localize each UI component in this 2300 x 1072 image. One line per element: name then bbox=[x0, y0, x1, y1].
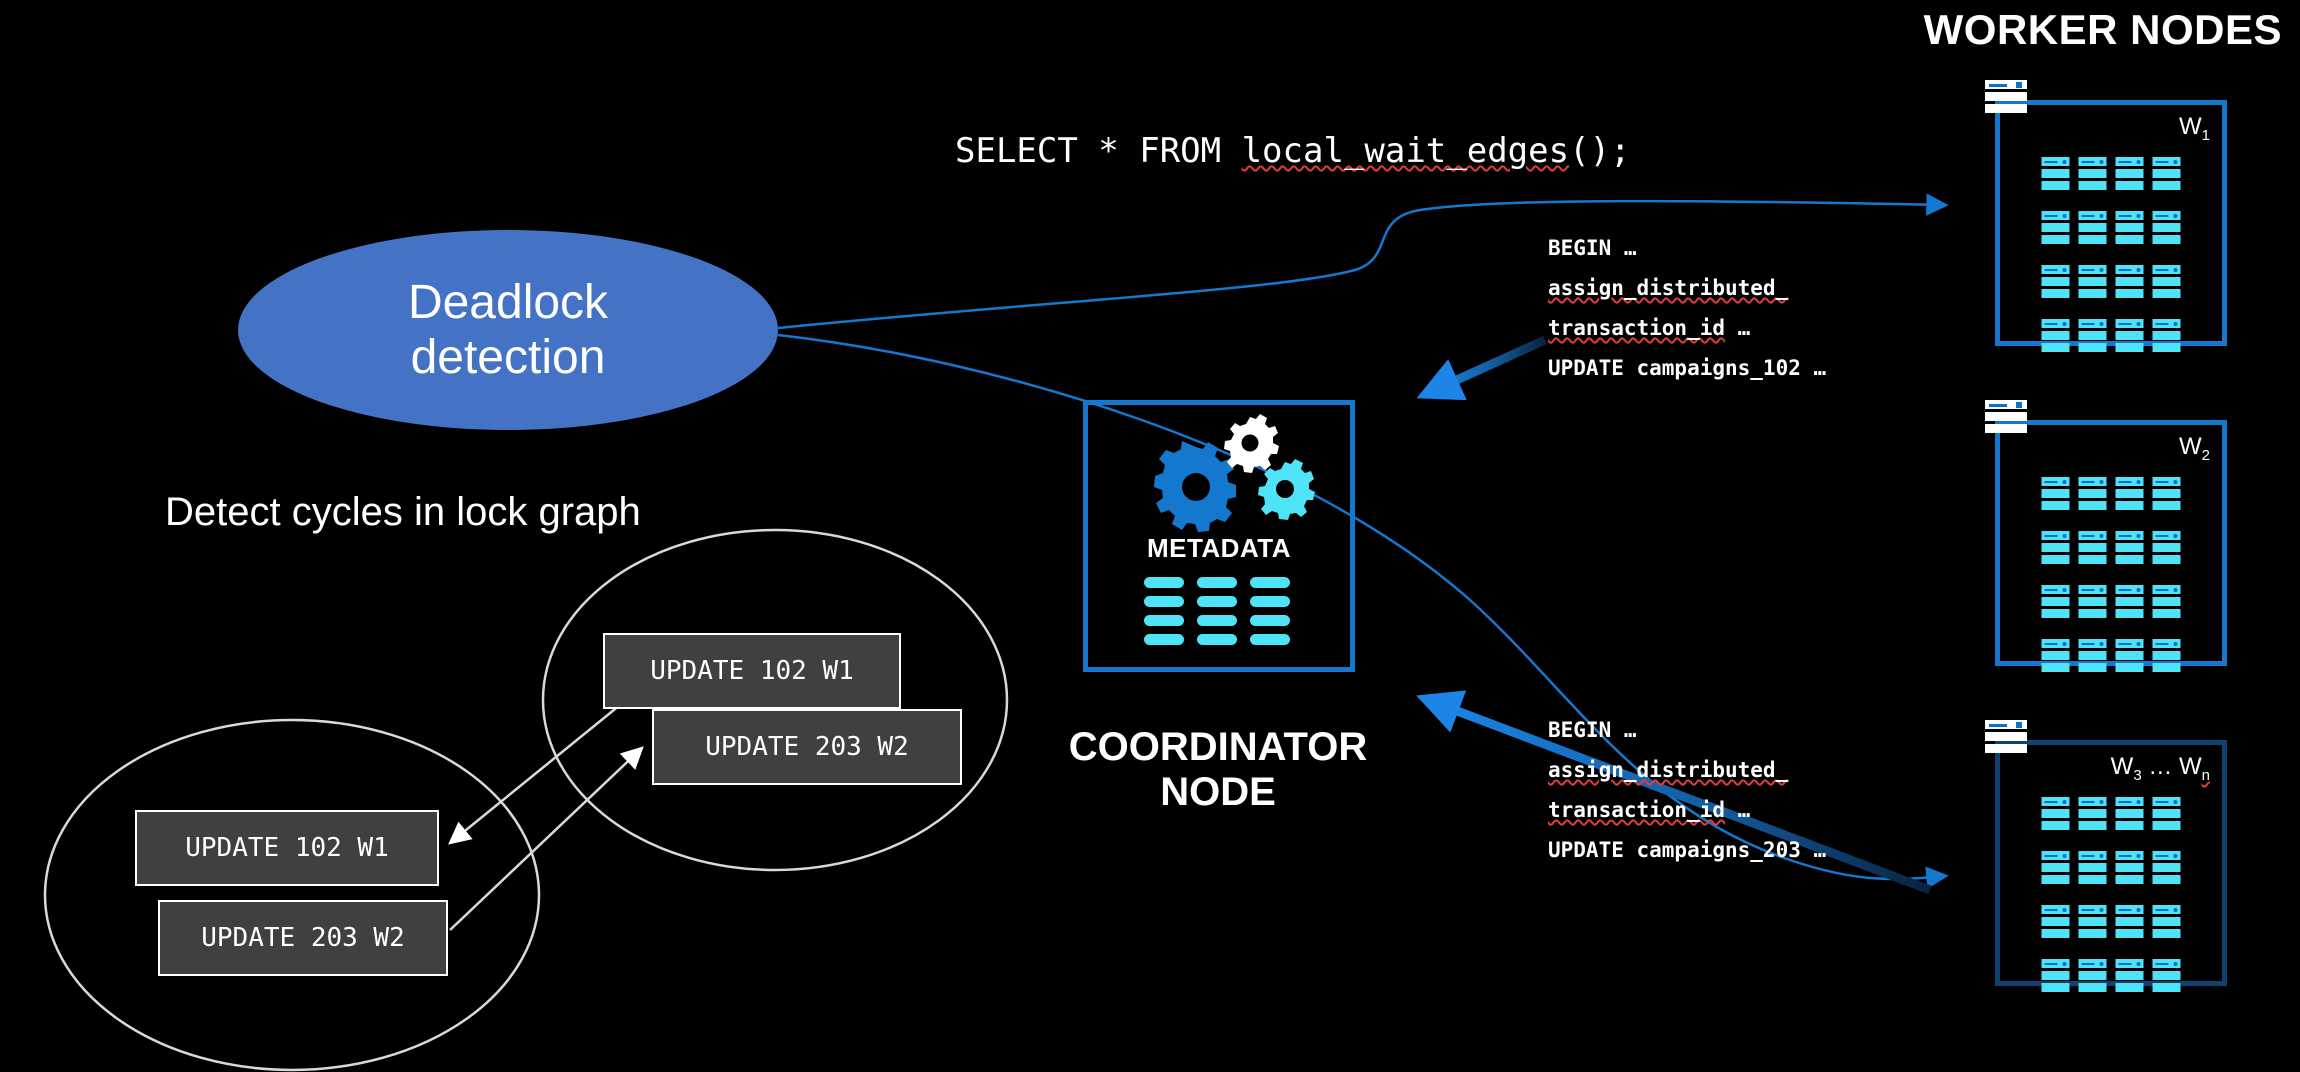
table-icon bbox=[2079, 157, 2107, 193]
server-bar bbox=[1985, 80, 2027, 89]
table-icon-row bbox=[2153, 651, 2181, 660]
table-icon-header bbox=[2042, 211, 2070, 220]
table-icon-row bbox=[2079, 929, 2107, 938]
table-icon-row bbox=[2153, 983, 2181, 992]
worker-node-label-2: W2 bbox=[2179, 433, 2210, 464]
table-icon bbox=[2042, 851, 2070, 887]
table-icon-header bbox=[2153, 639, 2181, 648]
table-icon-row bbox=[2079, 809, 2107, 818]
table-icon-header bbox=[2079, 157, 2107, 166]
txn-line-begin: BEGIN … bbox=[1548, 710, 1826, 750]
table-icon bbox=[2153, 639, 2181, 675]
table-icon bbox=[2079, 905, 2107, 941]
table-icon bbox=[2153, 477, 2181, 513]
metadata-bar bbox=[1197, 634, 1237, 645]
table-icon-row bbox=[2116, 331, 2144, 340]
table-icon-row bbox=[2042, 597, 2070, 606]
server-bar bbox=[1985, 720, 2027, 729]
table-icon-row bbox=[2079, 821, 2107, 830]
table-icon-row bbox=[2153, 169, 2181, 178]
table-icon-row bbox=[2042, 875, 2070, 884]
server-icon bbox=[1985, 720, 2027, 756]
table-icon bbox=[2116, 319, 2144, 355]
table-icon bbox=[2079, 639, 2107, 675]
table-icon-header bbox=[2116, 797, 2144, 806]
table-icon-row bbox=[2153, 181, 2181, 190]
metadata-bar bbox=[1197, 577, 1237, 588]
table-icon-row bbox=[2042, 663, 2070, 672]
table-icon bbox=[2116, 639, 2144, 675]
arrow-txn-top-to-coordinator bbox=[1428, 340, 1545, 393]
table-icon-row bbox=[2042, 181, 2070, 190]
coordinator-node-box: METADATA bbox=[1083, 400, 1355, 672]
lock-node-a2: UPDATE 203 W2 bbox=[652, 709, 962, 785]
table-icon bbox=[2153, 959, 2181, 995]
table-icon bbox=[2153, 265, 2181, 301]
table-icon-header bbox=[2042, 319, 2070, 328]
table-icon-header bbox=[2116, 851, 2144, 860]
metadata-bar bbox=[1250, 634, 1290, 645]
table-icon bbox=[2042, 959, 2070, 995]
table-icon bbox=[2116, 851, 2144, 887]
table-icon-row bbox=[2079, 223, 2107, 232]
table-icon-row bbox=[2079, 875, 2107, 884]
table-icon-row bbox=[2153, 289, 2181, 298]
table-icon-header bbox=[2042, 639, 2070, 648]
table-icon-row bbox=[2079, 555, 2107, 564]
table-icon-header bbox=[2042, 585, 2070, 594]
table-icon-row bbox=[2079, 917, 2107, 926]
table-icon-header bbox=[2079, 905, 2107, 914]
deadlock-title-line2: detection bbox=[408, 330, 608, 385]
table-icon-row bbox=[2153, 609, 2181, 618]
table-icon bbox=[2116, 797, 2144, 833]
table-icon-row bbox=[2042, 971, 2070, 980]
table-icon-header bbox=[2116, 157, 2144, 166]
table-icon-row bbox=[2042, 929, 2070, 938]
worker-label-subscript-n: n bbox=[2202, 767, 2210, 784]
table-icon-row bbox=[2153, 875, 2181, 884]
table-icon-header bbox=[2116, 639, 2144, 648]
server-bar bbox=[1985, 424, 2027, 433]
table-icon bbox=[2116, 959, 2144, 995]
table-icon-header bbox=[2153, 157, 2181, 166]
metadata-bar bbox=[1250, 577, 1290, 588]
table-icon-row bbox=[2116, 489, 2144, 498]
table-icon-row bbox=[2116, 555, 2144, 564]
table-icon bbox=[2042, 531, 2070, 567]
table-icon-row bbox=[2042, 235, 2070, 244]
table-icon bbox=[2116, 905, 2144, 941]
table-icon bbox=[2042, 639, 2070, 675]
table-icon-header bbox=[2153, 265, 2181, 274]
table-icon-header bbox=[2042, 265, 2070, 274]
deadlock-title-line1: Deadlock bbox=[408, 275, 608, 330]
table-icon-header bbox=[2079, 477, 2107, 486]
table-icon-row bbox=[2042, 223, 2070, 232]
table-icon bbox=[2079, 585, 2107, 621]
metadata-label: METADATA bbox=[1088, 533, 1350, 564]
table-icon bbox=[2042, 265, 2070, 301]
lock-edge-a1-to-b1 bbox=[450, 705, 620, 843]
coordinator-title-line2: NODE bbox=[1058, 770, 1378, 815]
table-icon-row bbox=[2153, 971, 2181, 980]
table-icon-header bbox=[2042, 905, 2070, 914]
table-icon-row bbox=[2116, 863, 2144, 872]
table-icon-row bbox=[2079, 863, 2107, 872]
metadata-bar bbox=[1144, 596, 1184, 607]
table-icon-row bbox=[2042, 289, 2070, 298]
table-icon bbox=[2042, 319, 2070, 355]
table-icon-header bbox=[2042, 477, 2070, 486]
table-icon-header bbox=[2079, 211, 2107, 220]
table-icon-row bbox=[2079, 501, 2107, 510]
table-icon bbox=[2116, 157, 2144, 193]
table-icon-row bbox=[2153, 917, 2181, 926]
worker-node-label-3: W3 … Wn bbox=[2111, 753, 2210, 784]
table-icon-row bbox=[2042, 343, 2070, 352]
table-icon-header bbox=[2116, 211, 2144, 220]
worker-label-text: W bbox=[2111, 753, 2134, 780]
table-icon-row bbox=[2079, 277, 2107, 286]
table-icon-row bbox=[2116, 289, 2144, 298]
table-icon-header bbox=[2042, 157, 2070, 166]
table-icon-row bbox=[2079, 169, 2107, 178]
table-icon-grid bbox=[2042, 157, 2181, 355]
table-icon-header bbox=[2116, 585, 2144, 594]
txn-line-begin: BEGIN … bbox=[1548, 228, 1826, 268]
table-icon-header bbox=[2042, 959, 2070, 968]
txn-line-update: UPDATE campaigns_102 … bbox=[1548, 348, 1826, 388]
table-icon-row bbox=[2042, 169, 2070, 178]
coordinator-node-title: COORDINATOR NODE bbox=[1058, 725, 1378, 815]
table-icon-row bbox=[2153, 597, 2181, 606]
table-icon-row bbox=[2042, 809, 2070, 818]
table-icon-row bbox=[2153, 809, 2181, 818]
table-icon bbox=[2116, 585, 2144, 621]
txn-line-assign: assign_distributed_ bbox=[1548, 276, 1788, 300]
table-icon-row bbox=[2042, 651, 2070, 660]
table-icon bbox=[2079, 851, 2107, 887]
worker-node-3: W3 … Wn bbox=[1995, 740, 2227, 986]
txn-line-txnid-suffix: … bbox=[1725, 798, 1750, 822]
server-bar bbox=[1985, 104, 2027, 113]
table-icon-row bbox=[2116, 971, 2144, 980]
table-icon bbox=[2153, 157, 2181, 193]
worker-nodes-title: WORKER NODES bbox=[1924, 6, 2282, 54]
metadata-bar bbox=[1144, 615, 1184, 626]
table-icon bbox=[2042, 211, 2070, 247]
table-icon-row bbox=[2042, 609, 2070, 618]
deadlock-detection-ellipse: Deadlock detection bbox=[238, 230, 778, 430]
table-icon-row bbox=[2153, 489, 2181, 498]
table-icon-row bbox=[2042, 821, 2070, 830]
table-icon-row bbox=[2116, 235, 2144, 244]
lock-node-a1: UPDATE 102 W1 bbox=[603, 633, 901, 709]
table-icon-header bbox=[2079, 851, 2107, 860]
diagram-canvas: WORKER NODES COORDINATOR NODE Deadlock d… bbox=[0, 0, 2300, 1072]
metadata-bar bbox=[1197, 596, 1237, 607]
worker-label-subscript: 2 bbox=[2202, 447, 2210, 464]
table-icon-row bbox=[2079, 971, 2107, 980]
deadlock-detection-label: Deadlock detection bbox=[408, 275, 608, 385]
table-icon-header bbox=[2079, 797, 2107, 806]
table-icon bbox=[2042, 157, 2070, 193]
sql-query-text: SELECT * FROM local_wait_edges(); bbox=[955, 131, 1631, 171]
txn-line-txnid-suffix: … bbox=[1725, 316, 1750, 340]
metadata-bar bbox=[1144, 577, 1184, 588]
gear-small-top-icon bbox=[1224, 414, 1279, 473]
table-icon-row bbox=[2153, 663, 2181, 672]
worker-label-text: W bbox=[2179, 113, 2202, 140]
server-icon bbox=[1985, 80, 2027, 116]
table-icon bbox=[2079, 211, 2107, 247]
table-icon-row bbox=[2153, 223, 2181, 232]
table-icon-row bbox=[2042, 555, 2070, 564]
table-icon bbox=[2042, 585, 2070, 621]
txn-line-update: UPDATE campaigns_203 … bbox=[1548, 830, 1826, 870]
table-icon-row bbox=[2079, 181, 2107, 190]
table-icon-header bbox=[2153, 477, 2181, 486]
table-icon bbox=[2079, 477, 2107, 513]
lock-node-b1: UPDATE 102 W1 bbox=[135, 810, 439, 886]
table-icon-row bbox=[2153, 331, 2181, 340]
table-icon-row bbox=[2079, 489, 2107, 498]
table-icon-row bbox=[2116, 181, 2144, 190]
worker-node-1: W1 bbox=[1995, 100, 2227, 346]
table-icon-row bbox=[2042, 489, 2070, 498]
table-icon-header bbox=[2079, 531, 2107, 540]
transaction-block-203: BEGIN … assign_distributed_ transaction_… bbox=[1548, 710, 1826, 870]
table-icon-row bbox=[2042, 543, 2070, 552]
table-icon-row bbox=[2116, 809, 2144, 818]
table-icon-row bbox=[2116, 609, 2144, 618]
table-icon-row bbox=[2042, 331, 2070, 340]
server-bar bbox=[1985, 744, 2027, 753]
table-icon-grid bbox=[2042, 477, 2181, 675]
table-icon bbox=[2042, 905, 2070, 941]
worker-label-suffix: … W bbox=[2142, 753, 2202, 780]
table-icon-row bbox=[2116, 169, 2144, 178]
table-icon-row bbox=[2153, 343, 2181, 352]
coordinator-title-line1: COORDINATOR bbox=[1058, 725, 1378, 770]
table-icon bbox=[2116, 477, 2144, 513]
server-bar bbox=[1985, 92, 2027, 101]
table-icon-header bbox=[2079, 585, 2107, 594]
table-icon bbox=[2116, 211, 2144, 247]
table-icon-row bbox=[2042, 983, 2070, 992]
table-icon-header bbox=[2153, 797, 2181, 806]
table-icon-row bbox=[2116, 663, 2144, 672]
table-icon-header bbox=[2153, 585, 2181, 594]
table-icon-row bbox=[2116, 543, 2144, 552]
lock-edge-b2-to-a2 bbox=[450, 748, 642, 930]
table-icon-header bbox=[2116, 319, 2144, 328]
txn-line-txnid: transaction_id bbox=[1548, 316, 1725, 340]
table-icon-header bbox=[2116, 265, 2144, 274]
lock-graph-subtitle: Detect cycles in lock graph bbox=[165, 490, 641, 535]
table-icon-row bbox=[2079, 983, 2107, 992]
table-icon-row bbox=[2116, 501, 2144, 510]
table-icon bbox=[2079, 797, 2107, 833]
lock-cycle-ellipse-b bbox=[45, 720, 539, 1070]
table-icon-row bbox=[2079, 663, 2107, 672]
table-icon bbox=[2079, 959, 2107, 995]
table-icon-grid bbox=[2042, 797, 2181, 995]
table-icon bbox=[2153, 211, 2181, 247]
server-bar bbox=[1985, 732, 2027, 741]
table-icon-row bbox=[2116, 277, 2144, 286]
txn-line-assign: assign_distributed_ bbox=[1548, 758, 1788, 782]
table-icon-header bbox=[2042, 851, 2070, 860]
table-icon-header bbox=[2116, 477, 2144, 486]
sql-prefix: SELECT * FROM bbox=[955, 131, 1242, 171]
table-icon-row bbox=[2116, 929, 2144, 938]
table-icon-row bbox=[2116, 875, 2144, 884]
table-icon bbox=[2153, 585, 2181, 621]
metadata-bars-grid bbox=[1144, 577, 1294, 645]
sql-function-name: local_wait_edges bbox=[1242, 131, 1570, 171]
table-icon-header bbox=[2042, 797, 2070, 806]
gear-large-icon bbox=[1154, 441, 1236, 532]
table-icon-row bbox=[2079, 597, 2107, 606]
table-icon-header bbox=[2079, 265, 2107, 274]
table-icon bbox=[2153, 797, 2181, 833]
table-icon-header bbox=[2116, 905, 2144, 914]
worker-node-2: W2 bbox=[1995, 420, 2227, 666]
table-icon-row bbox=[2153, 235, 2181, 244]
metadata-bar bbox=[1144, 634, 1184, 645]
table-icon-header bbox=[2116, 531, 2144, 540]
table-icon-row bbox=[2042, 863, 2070, 872]
table-icon-row bbox=[2042, 501, 2070, 510]
table-icon-row bbox=[2116, 983, 2144, 992]
table-icon-header bbox=[2079, 959, 2107, 968]
table-icon bbox=[2079, 265, 2107, 301]
transaction-block-102: BEGIN … assign_distributed_ transaction_… bbox=[1548, 228, 1826, 388]
table-icon-header bbox=[2153, 531, 2181, 540]
table-icon-row bbox=[2116, 223, 2144, 232]
table-icon-row bbox=[2079, 331, 2107, 340]
table-icon bbox=[2153, 319, 2181, 355]
table-icon-row bbox=[2116, 821, 2144, 830]
gears-icon bbox=[1088, 413, 1360, 543]
table-icon-header bbox=[2042, 531, 2070, 540]
table-icon-row bbox=[2116, 597, 2144, 606]
worker-label-subscript: 3 bbox=[2133, 767, 2141, 784]
sql-suffix: (); bbox=[1569, 131, 1630, 171]
table-icon-header bbox=[2079, 639, 2107, 648]
table-icon-row bbox=[2116, 917, 2144, 926]
table-icon-row bbox=[2153, 543, 2181, 552]
table-icon-header bbox=[2153, 851, 2181, 860]
table-icon-row bbox=[2042, 917, 2070, 926]
table-icon bbox=[2153, 905, 2181, 941]
table-icon-header bbox=[2153, 211, 2181, 220]
metadata-bar bbox=[1250, 615, 1290, 626]
metadata-bar bbox=[1250, 596, 1290, 607]
table-icon-row bbox=[2153, 929, 2181, 938]
table-icon-header bbox=[2153, 959, 2181, 968]
table-icon bbox=[2042, 477, 2070, 513]
table-icon-row bbox=[2153, 501, 2181, 510]
table-icon bbox=[2116, 265, 2144, 301]
table-icon bbox=[2153, 531, 2181, 567]
table-icon bbox=[2079, 531, 2107, 567]
txn-line-txnid: transaction_id bbox=[1548, 798, 1725, 822]
table-icon-row bbox=[2079, 543, 2107, 552]
table-icon bbox=[2042, 797, 2070, 833]
table-icon-row bbox=[2116, 651, 2144, 660]
table-icon-header bbox=[2079, 319, 2107, 328]
server-bar bbox=[1985, 400, 2027, 409]
server-bar bbox=[1985, 412, 2027, 421]
table-icon-header bbox=[2153, 905, 2181, 914]
server-icon bbox=[1985, 400, 2027, 436]
table-icon-row bbox=[2079, 343, 2107, 352]
table-icon-row bbox=[2153, 277, 2181, 286]
table-icon-row bbox=[2079, 609, 2107, 618]
worker-node-label-1: W1 bbox=[2179, 113, 2210, 144]
worker-label-text: W bbox=[2179, 433, 2202, 460]
table-icon-row bbox=[2153, 821, 2181, 830]
table-icon bbox=[2153, 851, 2181, 887]
table-icon-row bbox=[2079, 289, 2107, 298]
metadata-bar bbox=[1197, 615, 1237, 626]
table-icon bbox=[2116, 531, 2144, 567]
table-icon-row bbox=[2079, 651, 2107, 660]
table-icon bbox=[2079, 319, 2107, 355]
worker-label-subscript: 1 bbox=[2202, 127, 2210, 144]
table-icon-row bbox=[2116, 343, 2144, 352]
table-icon-row bbox=[2153, 863, 2181, 872]
table-icon-header bbox=[2116, 959, 2144, 968]
table-icon-header bbox=[2153, 319, 2181, 328]
table-icon-row bbox=[2079, 235, 2107, 244]
table-icon-row bbox=[2153, 555, 2181, 564]
table-icon-row bbox=[2042, 277, 2070, 286]
lock-node-b2: UPDATE 203 W2 bbox=[158, 900, 448, 976]
